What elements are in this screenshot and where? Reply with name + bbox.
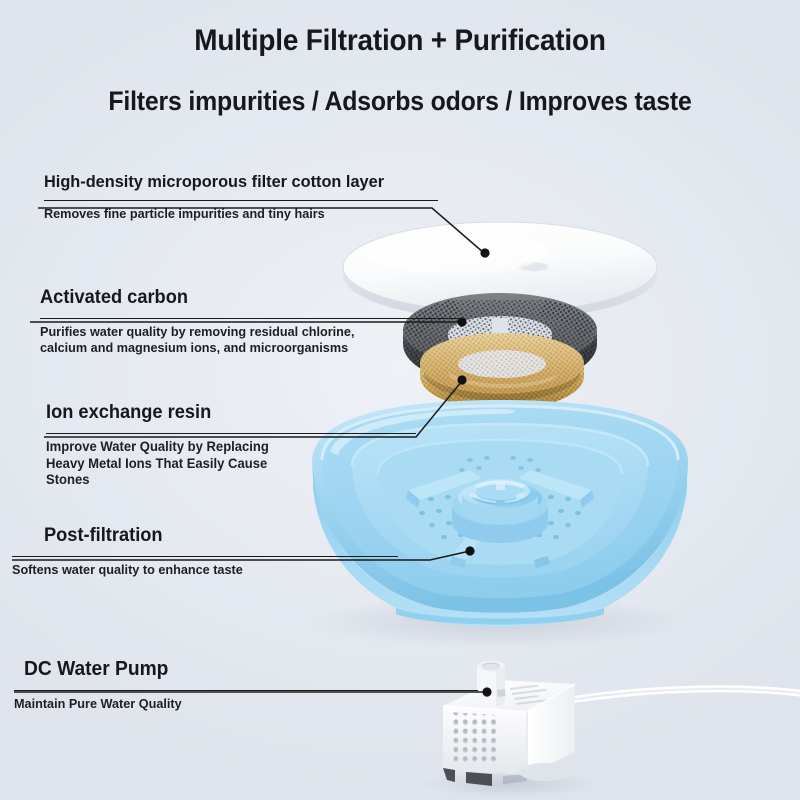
- callout-ion-exchange-resin: Ion exchange resin Improve Water Quality…: [46, 402, 416, 489]
- callout-subtitle-line: Heavy Metal Ions That Easily Cause: [46, 456, 401, 473]
- callout-subtitle-line: Softens water quality to enhance taste: [12, 562, 413, 578]
- callout-subtitle: Improve Water Quality by Replacing Heavy…: [46, 439, 401, 489]
- callout-subtitle-line: calcium and magnesium ions, and microorg…: [40, 340, 445, 356]
- callout-subtitle-line: Purifies water quality by removing resid…: [40, 324, 445, 340]
- infographic-canvas: Multiple Filtration + Purification Filte…: [0, 0, 800, 800]
- callout-subtitle-line: Stones: [46, 472, 401, 489]
- callout-activated-carbon: Activated carbon Purifies water quality …: [40, 287, 462, 356]
- callout-rule: [46, 433, 416, 434]
- callout-filter-cotton: High-density microporous filter cotton l…: [44, 172, 438, 222]
- callout-title: High-density microporous filter cotton l…: [44, 172, 422, 192]
- callout-title: DC Water Pump: [24, 658, 469, 681]
- callout-rule: [14, 690, 478, 691]
- callout-subtitle-line: Maintain Pure Water Quality: [14, 696, 469, 712]
- callout-subtitle: Softens water quality to enhance taste: [12, 562, 413, 578]
- callout-title: Ion exchange resin: [46, 402, 401, 424]
- callout-subtitle-line: Removes fine particle impurities and tin…: [44, 206, 422, 222]
- callout-rule: [12, 556, 398, 557]
- callout-dc-water-pump: DC Water Pump Maintain Pure Water Qualit…: [24, 658, 488, 712]
- callout-title: Activated carbon: [40, 287, 445, 309]
- callout-subtitle-line: Improve Water Quality by Replacing: [46, 439, 401, 456]
- dc-water-pump-unit: [443, 661, 800, 787]
- bowl-center-hub: [452, 479, 548, 543]
- pump-intake-grid: [444, 708, 504, 772]
- callout-subtitle: Removes fine particle impurities and tin…: [44, 206, 422, 222]
- callout-rule: [40, 318, 462, 319]
- callout-subtitle: Purifies water quality by removing resid…: [40, 324, 445, 356]
- callout-title: Post-filtration: [44, 525, 415, 547]
- callout-rule: [44, 200, 438, 201]
- callout-subtitle: Maintain Pure Water Quality: [14, 696, 469, 712]
- callout-post-filtration: Post-filtration Softens water quality to…: [44, 525, 430, 578]
